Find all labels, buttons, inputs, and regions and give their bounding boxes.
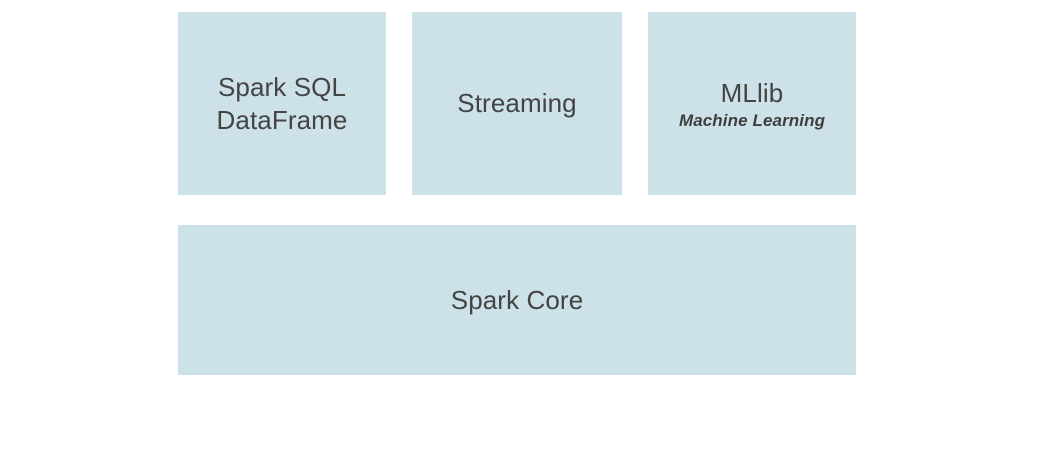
diagram-box-spark-core: Spark Core <box>178 225 856 375</box>
diagram-box-spark-core-label: Spark Core <box>451 284 584 317</box>
diagram-box-streaming: Streaming <box>412 12 622 195</box>
diagram-box-spark-sql: Spark SQL DataFrame <box>178 12 386 195</box>
spark-stack-diagram: Spark SQL DataFrame Streaming MLlib Mach… <box>0 0 1053 457</box>
diagram-box-mllib-sublabel: Machine Learning <box>679 110 825 131</box>
diagram-box-spark-sql-label: Spark SQL DataFrame <box>217 71 348 137</box>
diagram-box-mllib: MLlib Machine Learning <box>648 12 856 195</box>
diagram-box-streaming-label: Streaming <box>457 87 576 120</box>
diagram-box-mllib-label: MLlib <box>721 77 784 110</box>
